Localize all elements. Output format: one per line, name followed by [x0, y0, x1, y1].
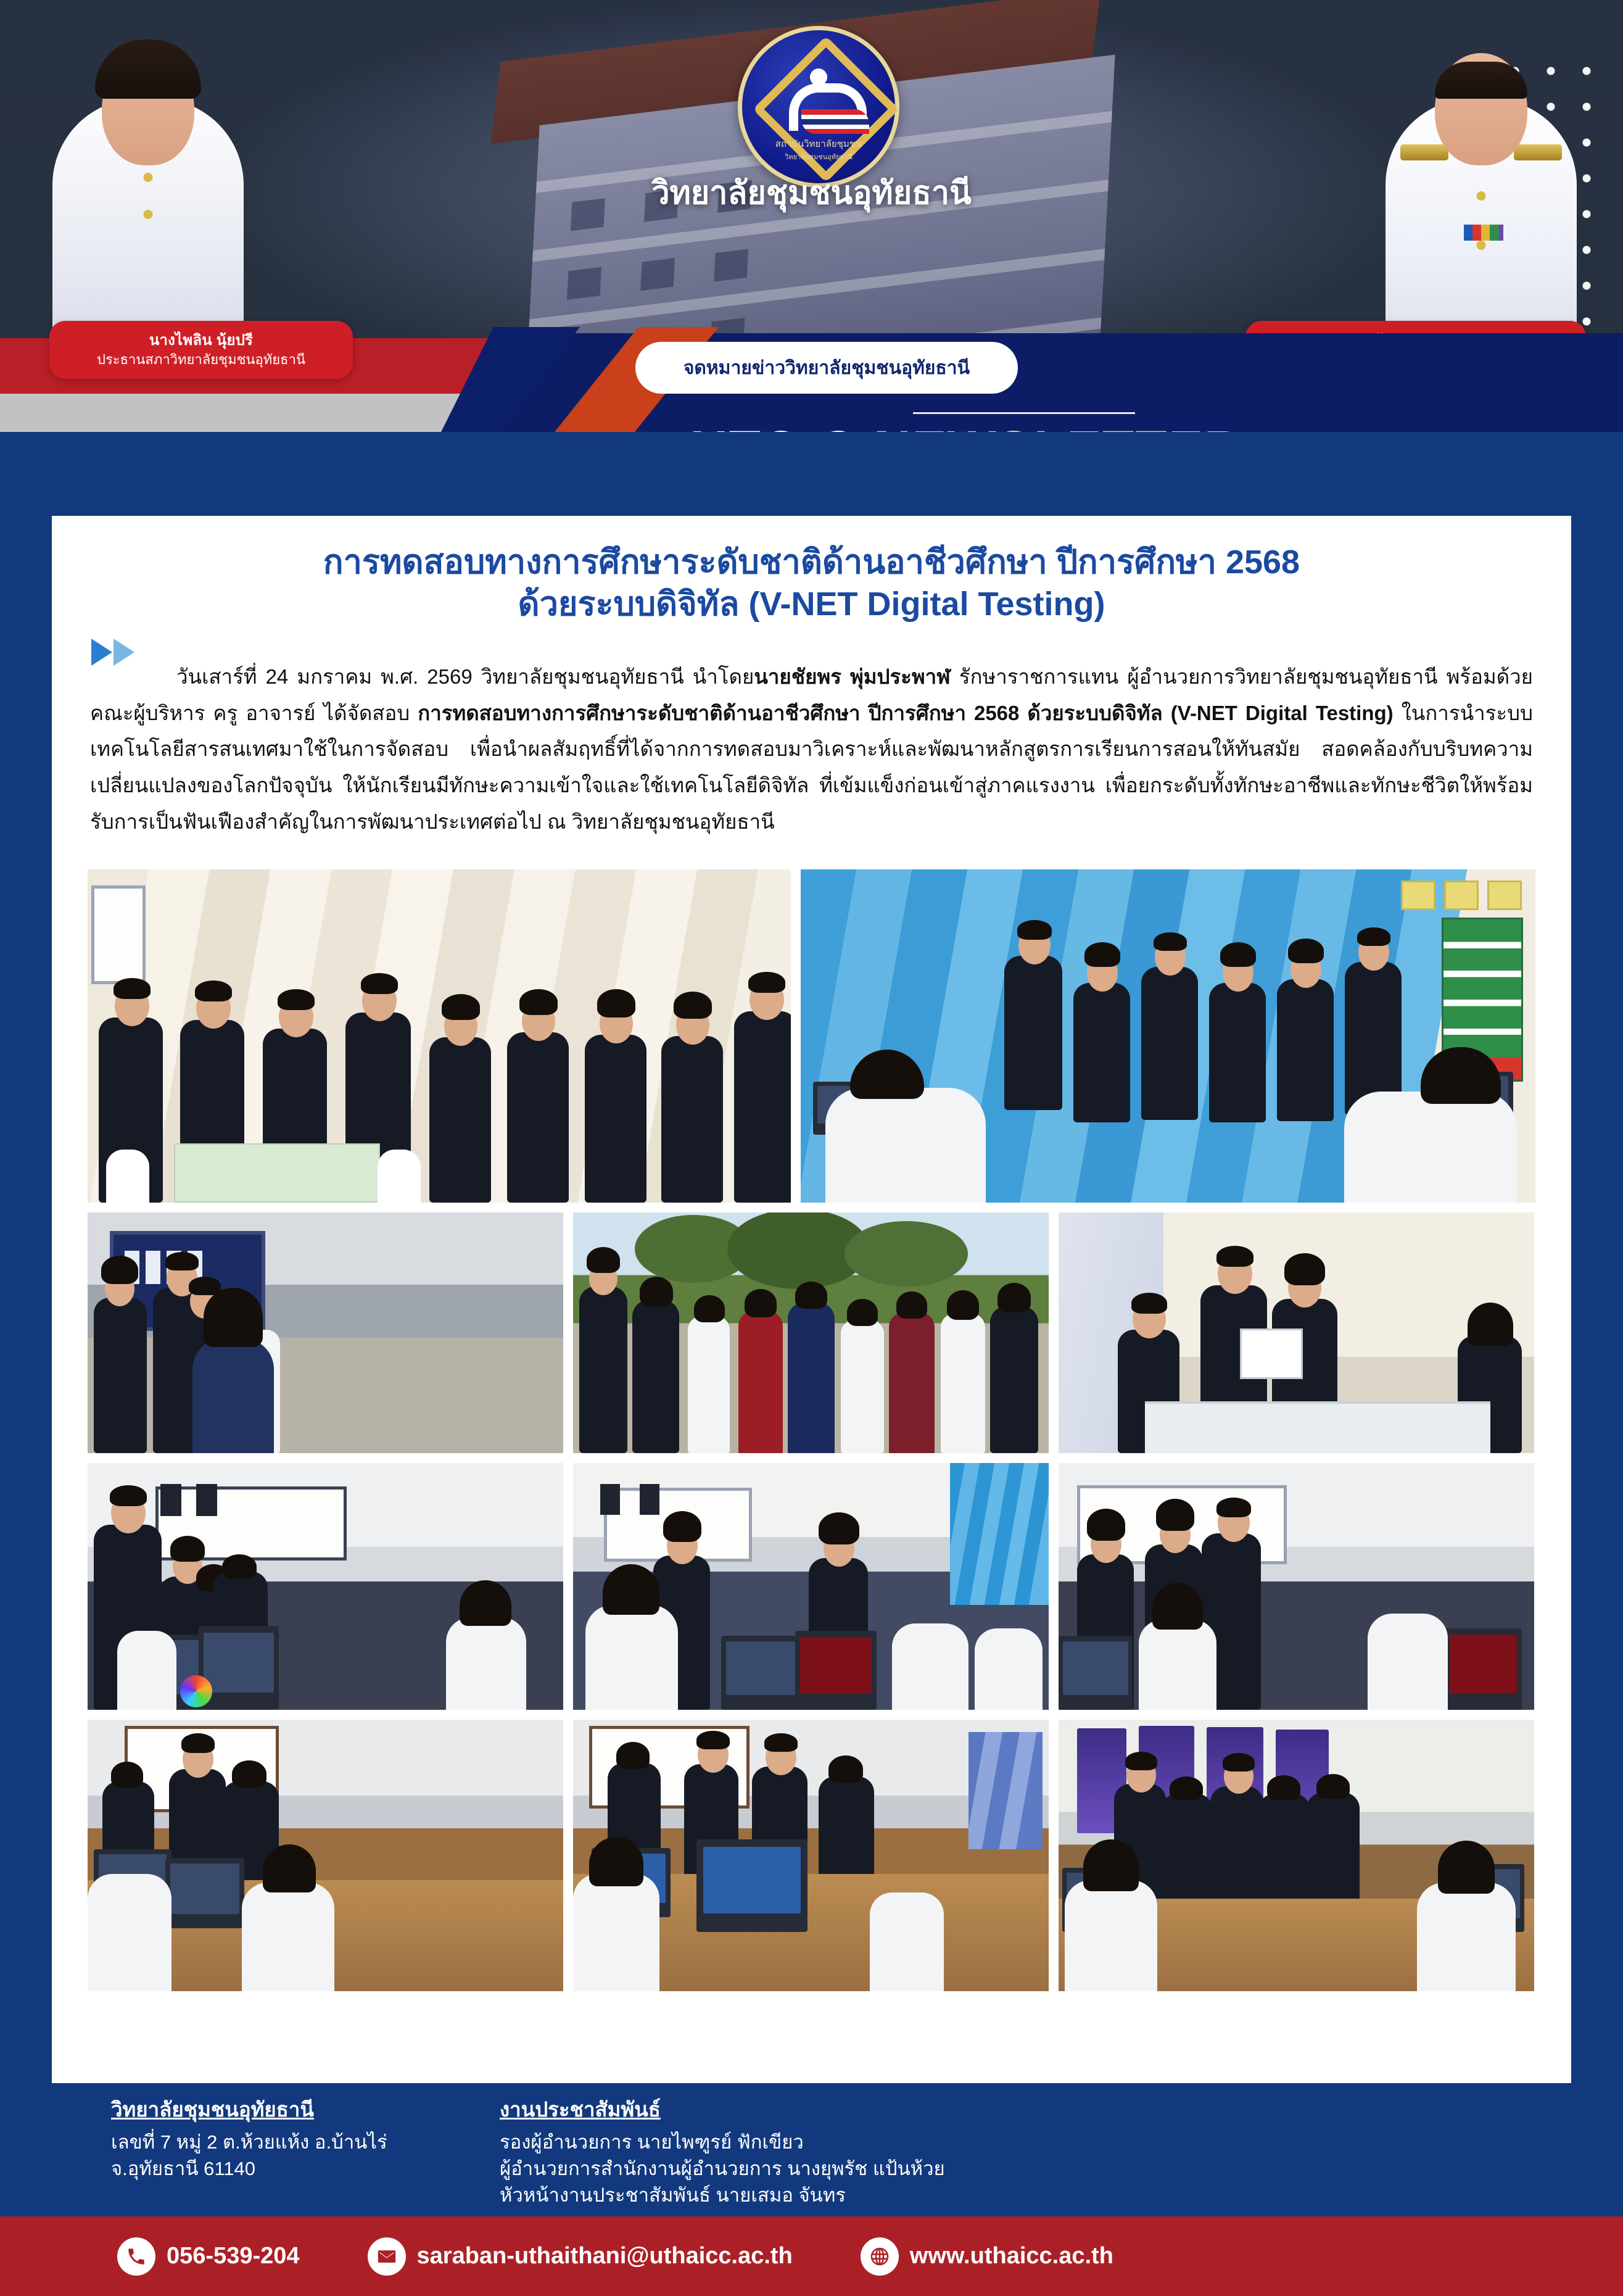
photo-student-navy [788, 1303, 835, 1453]
globe-icon [861, 2237, 899, 2276]
photo-person-hair [764, 1733, 798, 1752]
photo-student-hair [589, 1837, 643, 1886]
pill-text: จดหมายข่าววิทยาลัยชุมชนอุทัยธานี [683, 354, 970, 383]
photo-person [1210, 1786, 1263, 1917]
photo-person-hair [1125, 1752, 1157, 1770]
photo-student [585, 1605, 678, 1710]
gallery-photo[interactable] [1059, 1720, 1534, 1991]
photo-student-maroon [889, 1312, 935, 1453]
article-body-wrap: วันเสาร์ที่ 24 มกราคม พ.ศ. 2569 วิทยาลัย… [52, 625, 1571, 840]
photo-person [1161, 1794, 1213, 1911]
gallery-photo[interactable] [88, 1720, 563, 1991]
photo-monitor [721, 1636, 800, 1710]
photo-gallery [52, 861, 1571, 1991]
photo-person-hair [165, 1252, 199, 1270]
building-window [714, 249, 748, 281]
photo-student [88, 1874, 171, 1991]
footer-pr-column: งานประชาสัมพันธ์ รองผู้อำนวยการ นายไพฑูร… [500, 2093, 1425, 2208]
gallery-photo[interactable] [88, 1212, 563, 1453]
article-card: การทดสอบทางการศึกษาระดับชาติด้านอาชีวศึก… [52, 516, 1571, 2083]
photo-student-hair [263, 1844, 316, 1892]
photo-person-hair [1316, 1774, 1350, 1799]
photo-student [975, 1628, 1043, 1710]
photo-table [1145, 1401, 1490, 1453]
photo-person [585, 1035, 646, 1203]
gallery-photo[interactable] [88, 1463, 563, 1710]
gallery-row-4 [88, 1720, 1535, 1991]
photo-person-hair [1267, 1775, 1300, 1800]
photo-person [1141, 967, 1198, 1120]
photo-person-hair [1170, 1776, 1203, 1800]
photo-student-hair [850, 1050, 924, 1099]
photo-student-hair [603, 1564, 659, 1615]
portrait-button [1477, 241, 1486, 250]
photo-monitor [1059, 1636, 1133, 1710]
photo-person-hair [1284, 1253, 1325, 1285]
body-bold-director-name: นายชัยพร พุ่มประพาฬ [754, 665, 950, 688]
photo-rgb-fan [180, 1675, 212, 1707]
footer-college-heading: วิทยาลัยชุมชนอุทัยธานี [111, 2093, 481, 2126]
photo-person-hair [278, 989, 315, 1010]
photo-person [94, 1298, 147, 1453]
photo-person-hair [616, 1742, 650, 1769]
photo-student-hair [204, 1288, 263, 1347]
photo-speaker [640, 1484, 659, 1515]
photo-board-item [146, 1251, 160, 1284]
building-floor-line [529, 249, 1105, 331]
footer-pr-heading: งานประชาสัมพันธ์ [500, 2093, 1425, 2126]
photo-student [941, 1314, 985, 1453]
photo-person-hair [1154, 932, 1187, 951]
college-emblem-logo: สถาบันวิทยาลัยชุมชน วิทยาลัยชุมชนอุทัยธา… [738, 26, 899, 188]
photo-student-hair [745, 1289, 777, 1317]
gallery-photo[interactable] [573, 1463, 1049, 1710]
photo-wall-panel [91, 885, 146, 984]
photo-blue-curtain [950, 1463, 1049, 1605]
gallery-photo[interactable] [1059, 1212, 1534, 1453]
footer-info: วิทยาลัยชุมชนอุทัยธานี เลขที่ 7 หมู่ 2 ต… [0, 2083, 1623, 2216]
double-chevron-icon [91, 639, 112, 666]
photo-person-hair [587, 1247, 620, 1273]
footer-pr-line-2: ผู้อำนวยการสำนักงานผู้อำนวยการ นางยุพรัช… [500, 2156, 1425, 2182]
footer-pr-line-1: รองผู้อำนวยการ นายไพฑูรย์ ฟักเขียว [500, 2129, 1425, 2156]
footer-address-column: วิทยาลัยชุมชนอุทัยธานี เลขที่ 7 หมู่ 2 ต… [111, 2093, 481, 2208]
photo-student [825, 1088, 986, 1203]
photo-person-hair [1220, 942, 1256, 967]
photo-person [734, 1011, 791, 1203]
photo-student-hair [847, 1299, 878, 1326]
headline-line-1: การทดสอบทางการศึกษาระดับชาติด้านอาชีวศึก… [52, 542, 1571, 584]
photo-student-hair [1438, 1841, 1495, 1894]
phone-icon [117, 2237, 155, 2276]
photo-person [1258, 1794, 1310, 1910]
photo-person [1209, 983, 1266, 1122]
photo-student-back [192, 1338, 274, 1453]
gallery-photo[interactable] [573, 1212, 1049, 1453]
photo-student [688, 1316, 730, 1453]
photo-person [632, 1300, 679, 1453]
photo-person [429, 1037, 491, 1203]
photo-person-hair [195, 980, 232, 1001]
photo-person-hair [101, 1256, 138, 1284]
photo-person-hair [1216, 1246, 1253, 1267]
contact-phone[interactable]: 056-539-204 [117, 2237, 300, 2276]
photo-person-hair [361, 973, 398, 994]
photo-student-hair [694, 1295, 725, 1322]
email-icon [368, 2237, 406, 2276]
photo-student-dark [990, 1306, 1038, 1453]
photo-person-hair [828, 1755, 863, 1783]
photo-student [573, 1874, 659, 1991]
photo-person-hair [114, 978, 151, 999]
portrait-hair [95, 39, 201, 99]
photo-student-hair [1152, 1583, 1203, 1630]
gallery-photo[interactable] [801, 869, 1535, 1203]
photo-student [870, 1892, 944, 1991]
photo-person-hair [181, 1733, 215, 1753]
photo-person [1307, 1792, 1360, 1913]
photo-person-hair [232, 1760, 266, 1788]
photo-person-hair [1468, 1303, 1513, 1346]
emblem-college-label: วิทยาลัยชุมชนอุทัยธานี [742, 151, 895, 162]
photo-person-hair [1017, 920, 1052, 940]
masthead-word-utcc: UTC-C [686, 420, 853, 432]
photo-student-hair [460, 1580, 511, 1626]
emblem-thai-flag [801, 109, 869, 134]
photo-blue-curtain [968, 1732, 1043, 1849]
photo-person-hair [110, 1485, 147, 1506]
photo-person [507, 1032, 569, 1203]
photo-person-hair [1156, 1499, 1194, 1531]
phone-number: 056-539-204 [167, 2243, 300, 2269]
photo-speaker [196, 1484, 217, 1516]
photo-person [661, 1036, 723, 1203]
photo-tree [845, 1221, 968, 1287]
article-body-text: วันเสาร์ที่ 24 มกราคม พ.ศ. 2569 วิทยาลัย… [90, 659, 1533, 840]
photo-student [242, 1883, 334, 1991]
photo-student [1417, 1883, 1516, 1991]
photo-student [1065, 1880, 1157, 1991]
photo-student-hair [1083, 1839, 1139, 1891]
photo-table [174, 1143, 380, 1203]
portrait-hair [1435, 62, 1527, 99]
header-college-name: วิทยาลัยชุมชนอุทัยธานี [0, 167, 1623, 218]
photo-person-hair [1223, 1753, 1255, 1772]
photo-student [1344, 1092, 1517, 1203]
building-window [567, 267, 601, 300]
photo-certificate [1240, 1328, 1303, 1379]
double-chevron-icon-secondary [114, 639, 134, 666]
gallery-photo[interactable] [88, 869, 791, 1203]
photo-person-hair [189, 1277, 221, 1295]
photo-monitor [795, 1631, 877, 1710]
photo-chair [378, 1150, 421, 1203]
photo-person-hair [696, 1731, 730, 1749]
header-banner: สถาบันวิทยาลัยชุมชน วิทยาลัยชุมชนอุทัยธา… [0, 0, 1623, 432]
photo-person-hair [663, 1511, 701, 1542]
photo-monitor [165, 1858, 244, 1928]
photo-student-hair [795, 1282, 827, 1309]
photo-student-red [738, 1311, 783, 1453]
photo-person-hair [1084, 942, 1120, 967]
newsletter-pill-label: จดหมายข่าววิทยาลัยชุมชนอุทัยธานี [635, 342, 1018, 394]
gallery-photo[interactable] [1059, 1463, 1534, 1710]
photo-person-hair [674, 992, 712, 1019]
photo-person [1004, 956, 1062, 1110]
photo-student [1368, 1614, 1448, 1710]
photo-monitor [1444, 1628, 1522, 1710]
photo-student [892, 1623, 968, 1710]
newsletter-page: สถาบันวิทยาลัยชุมชน วิทยาลัยชุมชนอุทัยธา… [0, 0, 1623, 2296]
uniform-epaulette [1514, 144, 1562, 160]
photo-student [1139, 1620, 1216, 1710]
photo-person-hair [819, 1512, 859, 1544]
footer-pr-line-3: หัวหน้างานประชาสัมพันธ์ นายเสมอ จันทร [500, 2182, 1425, 2209]
uniform-epaulette [1400, 144, 1448, 160]
photo-person-hair [170, 1536, 205, 1562]
photo-person-hair [597, 989, 635, 1017]
photo-monitor [696, 1839, 807, 1932]
uniform-ribbon-bar [1464, 225, 1503, 241]
masthead-word-newsletter: NEWSLETTER [869, 420, 1239, 432]
photo-person-hair [1357, 927, 1390, 946]
gallery-row-3 [88, 1463, 1535, 1710]
photo-student [117, 1631, 176, 1710]
photo-speaker [600, 1484, 620, 1515]
photo-person-hair [1216, 1498, 1251, 1517]
headline-line-2: ด้วยระบบดิจิทัล (V-NET Digital Testing) [52, 584, 1571, 626]
gallery-row-2 [88, 1212, 1535, 1453]
body-bold-exam-name: การทดสอบทางการศึกษาระดับชาติด้านอาชีวศึก… [418, 702, 1393, 724]
footer-address-line-2: จ.อุทัยธานี 61140 [111, 2156, 481, 2182]
photo-person-hair [640, 1277, 673, 1306]
photo-student [446, 1617, 526, 1710]
photo-student-hair [896, 1291, 927, 1319]
photo-person-hair [748, 972, 785, 993]
photo-person-hair [222, 1554, 257, 1579]
masthead-hairline [913, 412, 1135, 414]
gallery-row-1 [88, 869, 1535, 1203]
photo-speaker [160, 1484, 181, 1516]
email-address: saraban-uthaithani@uthaicc.ac.th [417, 2243, 793, 2269]
emblem-institute-label: สถาบันวิทยาลัยชุมชน [742, 136, 895, 151]
masthead-title: UTC-C NEWSLETTER [407, 420, 1518, 432]
photo-person [1277, 979, 1334, 1121]
contact-email[interactable]: saraban-uthaithani@uthaicc.ac.th [368, 2237, 793, 2276]
photo-person-hair [519, 989, 558, 1015]
photo-person-hair [442, 994, 480, 1020]
website-url: www.uthaicc.ac.th [910, 2243, 1113, 2269]
body-segment-1: วันเสาร์ที่ 24 มกราคม พ.ศ. 2569 วิทยาลัย… [176, 665, 754, 688]
photo-chair [106, 1150, 149, 1203]
contact-website[interactable]: www.uthaicc.ac.th [861, 2237, 1113, 2276]
photo-wall-sign [1487, 881, 1522, 910]
photo-student-hair [997, 1283, 1031, 1312]
photo-person-hair [1087, 1509, 1125, 1541]
contact-bar: 056-539-204 saraban-uthaithani@uthaicc.a… [0, 2216, 1623, 2296]
photo-person-hair [111, 1762, 143, 1788]
building-window [640, 258, 675, 291]
photo-student-hair [947, 1290, 979, 1320]
photo-person-hair [1131, 1293, 1167, 1314]
photo-person [579, 1287, 627, 1453]
photo-wall-sign [1401, 881, 1435, 910]
photo-wall-sign [1444, 881, 1479, 910]
article-headline: การทดสอบทางการศึกษาระดับชาติด้านอาชีวศึก… [52, 516, 1571, 625]
photo-person-hair [1288, 939, 1324, 963]
photo-student [841, 1320, 884, 1453]
masthead-band: จดหมายข่าววิทยาลัยชุมชนอุทัยธานี UTC-C N… [0, 333, 1623, 432]
footer-address-line-1: เลขที่ 7 หมู่ 2 ต.ห้วยแห้ง อ.บ้านไร่ [111, 2129, 481, 2156]
photo-person [1073, 983, 1130, 1122]
gallery-photo[interactable] [573, 1720, 1049, 1991]
